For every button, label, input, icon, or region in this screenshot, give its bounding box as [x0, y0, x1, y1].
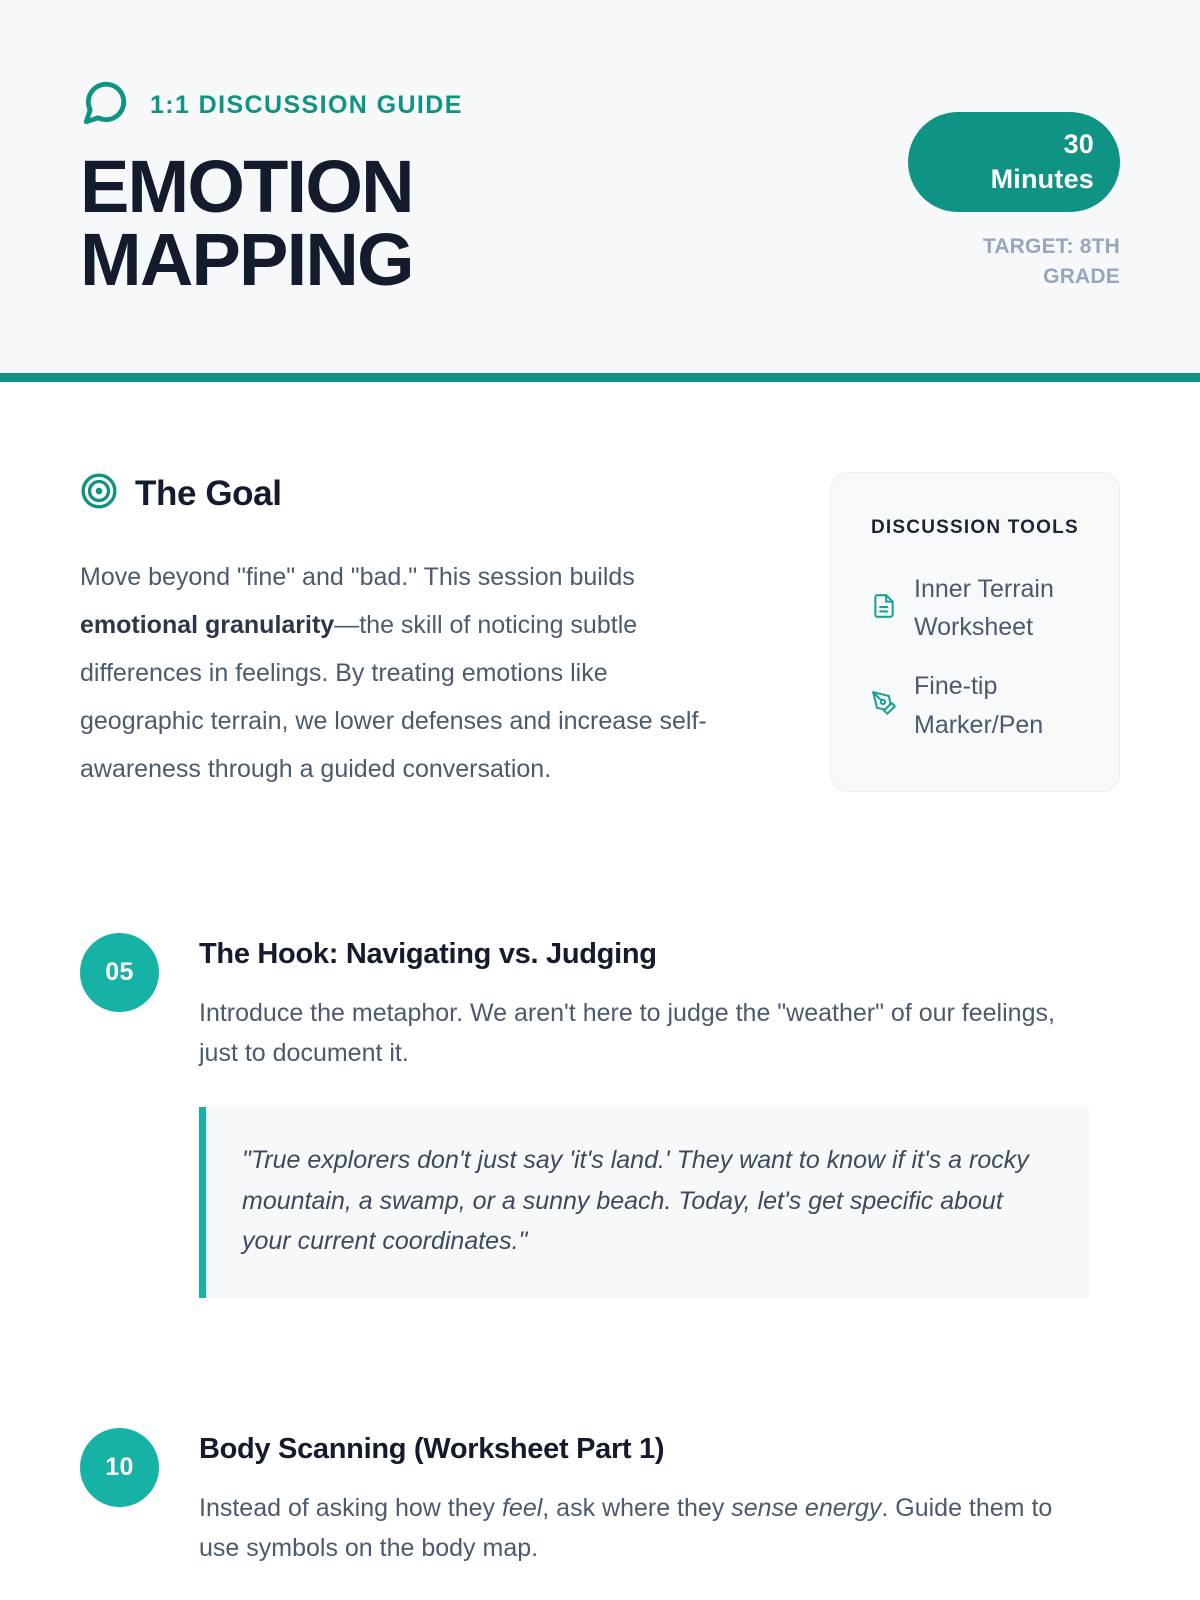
goal-column: The Goal Move beyond "fine" and "bad." T… [80, 472, 720, 793]
goal-text-part1: Move beyond "fine" and "bad." This sessi… [80, 563, 635, 591]
tool-item: Fine-tip Marker/Pen [871, 667, 1085, 745]
bullseye-icon [80, 472, 118, 515]
steps-list: 05 The Hook: Navigating vs. Judging Intr… [80, 793, 1120, 1568]
goal-title: The Goal [135, 474, 282, 514]
step-item: 10 Body Scanning (Worksheet Part 1) Inst… [80, 1428, 1120, 1568]
eyebrow-label: 1:1 Discussion Guide [150, 91, 463, 120]
discussion-guide-page: 1:1 Discussion Guide Emotion Mapping 30 … [0, 0, 1200, 1600]
step-body: Body Scanning (Worksheet Part 1) Instead… [199, 1428, 1120, 1568]
main-content: The Goal Move beyond "fine" and "bad." T… [0, 382, 1200, 1568]
file-text-icon [871, 593, 897, 624]
step-desc-emphasis: feel [502, 1494, 542, 1522]
chat-bubble-icon [80, 78, 130, 133]
eyebrow-row: 1:1 Discussion Guide [80, 78, 463, 133]
duration-value: 30 [1064, 127, 1094, 162]
step-desc-part2: , ask where they [542, 1494, 731, 1522]
pen-nib-icon [871, 690, 897, 721]
accent-divider [0, 373, 1200, 382]
tool-label: Inner Terrain Worksheet [914, 570, 1085, 648]
target-audience-note: Target: 8th Grade [940, 232, 1120, 292]
goal-description: Move beyond "fine" and "bad." This sessi… [80, 553, 710, 793]
step-item: 05 The Hook: Navigating vs. Judging Intr… [80, 933, 1120, 1298]
step-number-badge: 10 [80, 1428, 159, 1507]
page-title: Emotion Mapping [80, 151, 463, 296]
step-body: The Hook: Navigating vs. Judging Introdu… [199, 933, 1120, 1298]
step-desc-emphasis: sense energy [731, 1494, 881, 1522]
step-description: Instead of asking how they feel, ask whe… [199, 1488, 1089, 1568]
goal-text-emphasis: emotional granularity [80, 611, 334, 639]
step-quote-block: "True explorers don't just say 'it's lan… [199, 1107, 1089, 1298]
tool-label: Fine-tip Marker/Pen [914, 667, 1085, 745]
duration-unit: Minutes [991, 162, 1094, 197]
step-number-badge: 05 [80, 933, 159, 1012]
header-inner: 1:1 Discussion Guide Emotion Mapping 30 … [80, 78, 1120, 296]
header-right: 30 Minutes Target: 8th Grade [908, 78, 1120, 292]
step-description: Introduce the metaphor. We aren't here t… [199, 993, 1089, 1073]
page-title-line2: Mapping [80, 218, 413, 301]
step-title: Body Scanning (Worksheet Part 1) [199, 1433, 1120, 1466]
header-left: 1:1 Discussion Guide Emotion Mapping [80, 78, 463, 296]
page-header: 1:1 Discussion Guide Emotion Mapping 30 … [0, 0, 1200, 373]
discussion-tools-title: Discussion Tools [871, 515, 1085, 542]
page-title-line1: Emotion [80, 145, 413, 228]
tool-item: Inner Terrain Worksheet [871, 570, 1085, 648]
step-title: The Hook: Navigating vs. Judging [199, 938, 1120, 971]
goal-section: The Goal Move beyond "fine" and "bad." T… [80, 382, 1120, 793]
duration-badge: 30 Minutes [908, 112, 1120, 212]
goal-heading: The Goal [80, 472, 720, 515]
step-desc-part1: Instead of asking how they [199, 1494, 502, 1522]
discussion-tools-card: Discussion Tools Inner Terrain Worksheet [830, 472, 1120, 792]
